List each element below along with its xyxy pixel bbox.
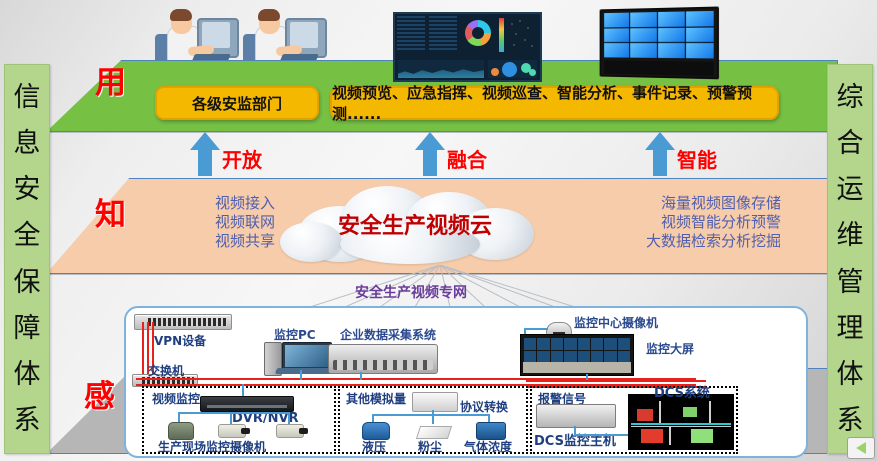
box-func-label: 视频预览、应急指挥、视频巡查、智能分析、事件记录、预警预测...... [332, 82, 777, 124]
arrow-up-open [190, 132, 220, 176]
dashboard-bubble-chart [488, 60, 537, 78]
video-wall-cell [657, 27, 684, 42]
private-network-label: 安全生产视频专网 [355, 282, 467, 302]
label-hydraulic: 液压 [362, 438, 386, 455]
right-banner-char-1: 合 [837, 130, 864, 157]
label-center-camera: 监控中心摄像机 [574, 314, 658, 331]
left-banner-information-security: 信 息 安 全 保 障 体 系 [4, 64, 50, 454]
video-wall-cell [657, 11, 684, 26]
dcs-node [683, 407, 697, 417]
box-camera-icon [218, 424, 246, 438]
arrow-shaft [423, 148, 437, 176]
layer-sense-kanji: 感 [84, 382, 115, 413]
video-wall-cell [686, 27, 714, 42]
video-wall-cell [604, 43, 629, 57]
cloud-left-item-1: 视频联网 [140, 213, 275, 232]
video-wall-cell [604, 13, 629, 28]
wall-cell [591, 338, 603, 350]
video-wall-cell [604, 28, 629, 42]
cloud-left-capabilities: 视频接入 视频联网 视频共享 [140, 194, 275, 251]
bubble [502, 62, 517, 77]
arrow-label-fusion: 融合 [447, 150, 487, 170]
box-dept-label: 各级安监部门 [192, 93, 282, 114]
blue-link [372, 414, 490, 416]
cloud-left-item-2: 视频共享 [140, 232, 275, 251]
bubble [491, 68, 499, 76]
dcs-link [659, 401, 661, 423]
wall-cell [564, 338, 576, 350]
wall-cell [618, 351, 630, 363]
data-acquisition-icon [328, 344, 438, 374]
dashboard-table-right [429, 16, 457, 52]
arrow-up-fusion [415, 132, 445, 176]
wall-cell [524, 338, 536, 350]
hair-shape [170, 9, 192, 21]
arrow-label-intelligent: 智能 [677, 150, 717, 170]
box-camera-icon [276, 424, 304, 438]
wall-cell [578, 338, 590, 350]
wall-cell [604, 338, 616, 350]
label-dcs-system: DCS系统 [654, 382, 710, 401]
monitor-pc-screen-icon [282, 342, 332, 370]
dcs-node [691, 429, 713, 443]
dcs-bus [631, 426, 731, 427]
right-banner-char-5: 理 [837, 315, 864, 342]
layer-use-kanji: 用 [95, 68, 126, 99]
left-banner-char-7: 系 [14, 407, 41, 434]
arrow-label-open: 开放 [222, 150, 262, 170]
left-banner-char-5: 障 [14, 315, 41, 342]
wall-cell [537, 338, 549, 350]
cloud-right-item-1: 视频智能分析预警 [556, 213, 781, 232]
wall-cell [564, 351, 576, 363]
protocol-converter-icon [412, 392, 458, 412]
cloud-left-item-0: 视频接入 [140, 194, 275, 213]
wall-console-desk [523, 362, 631, 373]
label-monitor-pc: 监控PC [274, 326, 316, 343]
label-gas-concentration: 气体浓度 [464, 438, 512, 455]
video-wall-base [604, 60, 714, 76]
monitor-screen [290, 22, 318, 48]
blue-link [300, 370, 302, 380]
video-wall-cell [686, 11, 714, 27]
hair-shape [258, 9, 280, 21]
label-dust: 粉尘 [418, 438, 442, 455]
wall-cell [578, 351, 590, 363]
label-switch: 交换机 [148, 362, 184, 379]
rack-ports [148, 318, 227, 326]
label-data-acquisition: 企业数据采集系统 [340, 326, 436, 343]
right-banner-char-2: 运 [837, 176, 864, 203]
blue-link [230, 412, 232, 424]
dvr-nvr-icon [200, 396, 294, 412]
wall-cell [618, 338, 630, 350]
screen-surface [285, 345, 329, 367]
dcs-link [669, 427, 671, 445]
blue-link [288, 412, 290, 424]
right-banner-char-3: 维 [837, 222, 864, 249]
dcs-system-icon [628, 394, 734, 450]
left-banner-char-3: 全 [14, 222, 41, 249]
cloud-title: 安全生产视频云 [280, 184, 550, 264]
bubble [529, 69, 536, 76]
dashboard-area-chart [398, 60, 484, 78]
blue-link [432, 410, 434, 424]
cloud-shape: 安全生产视频云 [280, 184, 550, 264]
dashboard-donut-chart [465, 20, 491, 46]
video-wall-cell [630, 12, 656, 27]
dcs-node [641, 429, 663, 443]
right-banner-char-6: 体 [837, 361, 864, 388]
label-protocol-conversion: 协议转换 [460, 398, 508, 415]
arrow-shaft [653, 148, 667, 176]
dcs-host-icon [536, 404, 616, 428]
label-analog-signals: 其他模拟量 [346, 390, 406, 407]
video-wall-cell [686, 43, 714, 58]
corner-widget[interactable] [847, 437, 875, 459]
device-front-panel [333, 360, 433, 370]
blue-link [178, 412, 290, 414]
dcs-node [637, 409, 653, 421]
video-wall-grid [604, 11, 714, 59]
left-banner-char-0: 信 [14, 84, 41, 111]
dvr-front-strip [207, 405, 287, 408]
data-dashboard-illustration [393, 12, 542, 82]
label-vpn-device: VPN设备 [154, 332, 206, 349]
wall-cell [524, 351, 536, 363]
blue-link [360, 372, 362, 380]
box-platform-functions[interactable]: 视频预览、应急指挥、视频巡查、智能分析、事件记录、预警预测...... [330, 86, 779, 120]
wall-cell [551, 351, 563, 363]
dashboard-table-left [397, 16, 425, 52]
arrow-shaft [198, 148, 212, 176]
monitor-screen [202, 22, 230, 48]
architecture-diagram: 信 息 安 全 保 障 体 系 综 合 运 维 管 理 体 系 用 [0, 0, 877, 461]
left-banner-char-2: 安 [14, 176, 41, 203]
right-banner-char-4: 管 [837, 269, 864, 296]
red-link [142, 322, 144, 380]
right-banner-char-0: 综 [837, 84, 864, 111]
green-chevron-icon [856, 442, 866, 454]
wall-cell [537, 351, 549, 363]
dcs-link [709, 401, 711, 423]
layer-know-kanji: 知 [95, 200, 126, 231]
right-banner-char-7: 系 [837, 407, 864, 434]
blue-link [242, 384, 244, 396]
dashboard-scatter-chart [508, 18, 536, 52]
box-safety-supervision-departments[interactable]: 各级安监部门 [155, 86, 319, 120]
cloud-right-item-0: 海量视频图像存储 [556, 194, 781, 213]
dashboard-color-scale [499, 18, 504, 52]
dcs-bus [631, 423, 731, 425]
arrow-up-intelligent [645, 132, 675, 176]
right-banner-operations-management: 综 合 运 维 管 理 体 系 [827, 64, 873, 454]
label-field-cameras: 生产现场监控摄像机 [158, 438, 266, 455]
video-wall-cell [657, 43, 684, 58]
left-banner-char-1: 息 [14, 130, 41, 157]
wall-cell [551, 338, 563, 350]
video-wall-cell [630, 28, 656, 43]
cloud-right-item-2: 大数据检索分析挖掘 [556, 232, 781, 251]
sense-layer-network-panel: VPN设备 交换机 监控PC 企业数据采集系统 监控中心摄像机 [124, 306, 808, 458]
wall-cells [524, 338, 630, 362]
video-wall-cell [630, 43, 656, 58]
wall-cell [604, 351, 616, 363]
label-big-screen: 监控大屏 [646, 340, 694, 357]
cloud-right-capabilities: 海量视频图像存储 视频智能分析预警 大数据检索分析挖掘 [556, 194, 781, 251]
left-banner-char-4: 保 [14, 269, 41, 296]
label-video-surveillance: 视频监控 [152, 390, 200, 407]
video-wall-illustration [600, 7, 720, 80]
left-banner-char-6: 体 [14, 361, 41, 388]
blue-link [524, 328, 548, 330]
big-screen-wall-icon [520, 334, 634, 376]
wall-cell [591, 351, 603, 363]
